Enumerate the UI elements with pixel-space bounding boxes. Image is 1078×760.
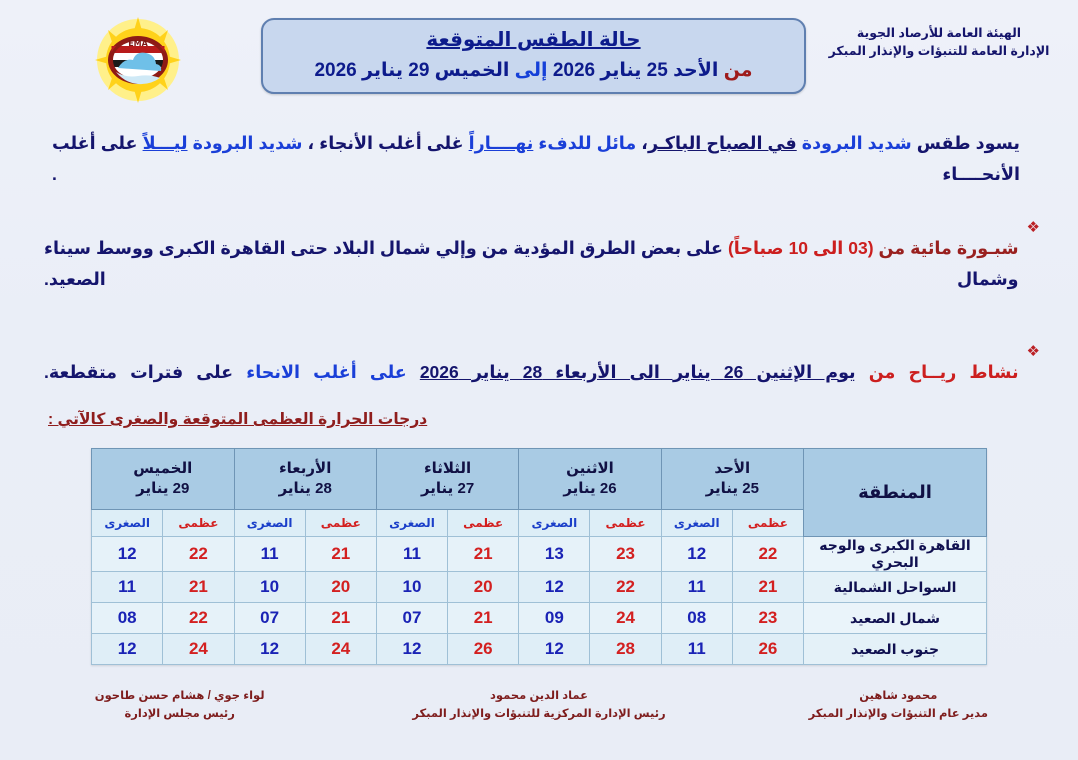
- p1-seg-3: في الصباح الباكـر: [648, 133, 797, 153]
- b1-seg-1: شبـورة مائية من: [879, 238, 1019, 258]
- table-subheader-max: عظمى: [732, 510, 803, 537]
- org-line-2: الإدارة العامة للتنبؤات والإنذار المبكر: [814, 42, 1064, 60]
- table-cell-min-temp: 12: [376, 634, 447, 665]
- signature-footer: محمود شاهينمدير عام التنبؤات والإنذار ال…: [0, 688, 1078, 748]
- table-cell-min-temp: 07: [234, 603, 305, 634]
- bullet-1-text: شبـورة مائية من (03 الى 10 صباحاً) على ب…: [44, 233, 1019, 296]
- table-cell-min-temp: 12: [519, 634, 590, 665]
- caption-text: درجات الحرارة العظمى المتوقعة والصغرى كا…: [48, 411, 427, 428]
- table-cell-min-temp: 12: [661, 537, 732, 572]
- title-range-start: الأحد 25 يناير 2026: [553, 60, 719, 81]
- table-header-day: الخميس29 يناير: [92, 449, 235, 510]
- p1-seg-8: شديد البرودة: [193, 133, 303, 153]
- p1-seg-2: شديد البرودة: [802, 133, 912, 153]
- table-cell-max-temp: 24: [305, 634, 376, 665]
- table-cell-min-temp: 08: [661, 603, 732, 634]
- table-cell-max-temp: 24: [590, 603, 661, 634]
- temperature-table-wrap: المنطقةالأحد25 ينايرالاثنين26 ينايرالثلا…: [91, 448, 987, 665]
- title-from: من: [724, 60, 753, 81]
- table-cell-max-temp: 22: [163, 603, 234, 634]
- b2-seg-1: نشاط ريــاح: [909, 362, 1019, 382]
- table-cell-min-temp: 12: [92, 537, 163, 572]
- table-cell-max-temp: 20: [305, 572, 376, 603]
- table-cell-max-temp: 22: [163, 537, 234, 572]
- title-date-range: من الأحد 25 يناير 2026 إلى الخميس 29 ينا…: [263, 59, 804, 82]
- table-subheader-min: الصغرى: [92, 510, 163, 537]
- bullet-diamond-icon: ❖: [1027, 339, 1040, 365]
- organization-block: الهيئة العامة للأرصاد الجوية الإدارة الع…: [814, 24, 1064, 60]
- temperature-table-caption: درجات الحرارة العظمى المتوقعة والصغرى كا…: [0, 410, 1078, 429]
- table-subheader-min: الصغرى: [661, 510, 732, 537]
- table-header-day: الأربعاء28 يناير: [234, 449, 376, 510]
- table-cell-min-temp: 10: [376, 572, 447, 603]
- forecast-bullet-2: ❖ نشاط ريــاح من يوم الإثنين 26 يناير ال…: [44, 339, 1040, 406]
- table-cell-min-temp: 12: [92, 634, 163, 665]
- table-cell-region: شمال الصعيد: [804, 603, 987, 634]
- signature-name: لواء جوي / هشام حسن طاحون: [0, 688, 359, 706]
- p1-seg-1: يسود طقس: [917, 133, 1020, 153]
- table-head: المنطقةالأحد25 ينايرالاثنين26 ينايرالثلا…: [92, 449, 987, 537]
- signature-block: لواء جوي / هشام حسن طاحونرئيس مجلس الإدا…: [0, 688, 359, 748]
- org-line-1: الهيئة العامة للأرصاد الجوية: [814, 24, 1064, 42]
- table-cell-min-temp: 12: [519, 572, 590, 603]
- day-name: الأربعاء: [236, 459, 375, 479]
- table-cell-max-temp: 20: [448, 572, 519, 603]
- table-row: شمال الصعيد23082409210721072208: [92, 603, 987, 634]
- bullet-2-text: نشاط ريــاح من يوم الإثنين 26 يناير الى …: [44, 357, 1019, 389]
- bullet-diamond-icon: ❖: [1027, 215, 1040, 241]
- table-cell-min-temp: 08: [92, 603, 163, 634]
- forecast-bullet-1: ❖ شبـورة مائية من (03 الى 10 صباحاً) على…: [44, 215, 1040, 313]
- signature-name: محمود شاهين: [719, 688, 1078, 706]
- table-cell-max-temp: 22: [590, 572, 661, 603]
- table-cell-min-temp: 11: [92, 572, 163, 603]
- table-cell-min-temp: 11: [234, 537, 305, 572]
- page-header: EMA حالة الطقس المتوقعة من الأحد 25 يناي…: [0, 8, 1078, 108]
- table-cell-max-temp: 21: [448, 603, 519, 634]
- day-name: الخميس: [93, 459, 233, 479]
- p1-seg-6: نهــــاراً: [469, 133, 534, 153]
- table-subheader-min: الصغرى: [234, 510, 305, 537]
- svg-text:EMA: EMA: [128, 39, 148, 48]
- day-date: 29 يناير: [93, 479, 233, 499]
- signature-role: مدير عام التنبؤات والإنذار المبكر: [719, 706, 1078, 724]
- signature-role: رئيس الإدارة المركزية للتنبؤات والإنذار …: [359, 706, 718, 724]
- table-subheader-min: الصغرى: [376, 510, 447, 537]
- table-header-day: الأحد25 يناير: [661, 449, 803, 510]
- table-row: القاهرة الكبرى والوجه البحري221223132111…: [92, 537, 987, 572]
- table-subheader-max: عظمى: [305, 510, 376, 537]
- table-cell-max-temp: 21: [163, 572, 234, 603]
- table-cell-min-temp: 11: [661, 634, 732, 665]
- table-body: القاهرة الكبرى والوجه البحري221223132111…: [92, 537, 987, 665]
- table-cell-min-temp: 12: [234, 634, 305, 665]
- table-cell-min-temp: 11: [661, 572, 732, 603]
- table-cell-region: القاهرة الكبرى والوجه البحري: [804, 537, 987, 572]
- table-cell-max-temp: 26: [448, 634, 519, 665]
- forecast-page: EMA حالة الطقس المتوقعة من الأحد 25 يناي…: [0, 0, 1078, 760]
- day-date: 28 يناير: [236, 479, 375, 499]
- b2-seg-4: على أغلب الانحاء: [246, 362, 406, 382]
- table-cell-min-temp: 07: [376, 603, 447, 634]
- table-cell-max-temp: 26: [732, 634, 803, 665]
- title-to: إلى: [515, 60, 548, 81]
- table-cell-max-temp: 21: [305, 537, 376, 572]
- temperature-table: المنطقةالأحد25 ينايرالاثنين26 ينايرالثلا…: [91, 448, 987, 665]
- table-cell-max-temp: 21: [732, 572, 803, 603]
- table-cell-max-temp: 24: [163, 634, 234, 665]
- table-cell-min-temp: 13: [519, 537, 590, 572]
- table-cell-min-temp: 10: [234, 572, 305, 603]
- signature-name: عماد الدين محمود: [359, 688, 718, 706]
- day-date: 26 يناير: [520, 479, 659, 499]
- signature-role: رئيس مجلس الإدارة: [0, 706, 359, 724]
- table-cell-max-temp: 22: [732, 537, 803, 572]
- table-cell-region: السواحل الشمالية: [804, 572, 987, 603]
- page-title: حالة الطقس المتوقعة: [263, 27, 804, 52]
- b1-seg-2: (03 الى 10 صباحاً): [728, 238, 874, 258]
- table-subheader-min: الصغرى: [519, 510, 590, 537]
- table-day-header-row: المنطقةالأحد25 ينايرالاثنين26 ينايرالثلا…: [92, 449, 987, 510]
- table-subheader-max: عظمى: [163, 510, 234, 537]
- p1-seg-5: مائل للدفء: [538, 133, 636, 153]
- forecast-content: يسود طقس شديد البرودة في الصباح الباكـر،…: [0, 128, 1078, 406]
- title-range-end: الخميس 29 يناير 2026: [314, 60, 509, 81]
- p1-seg-4: ،: [641, 133, 648, 153]
- b2-seg-3: يوم الإثنين 26 يناير الى الأربعاء 28 ينا…: [420, 362, 856, 382]
- p1-seg-9: ليـــلاً: [143, 133, 188, 153]
- b2-seg-2: من: [869, 362, 896, 382]
- table-cell-max-temp: 28: [590, 634, 661, 665]
- title-box: حالة الطقس المتوقعة من الأحد 25 يناير 20…: [261, 18, 806, 94]
- day-name: الأحد: [663, 459, 802, 479]
- table-cell-max-temp: 23: [590, 537, 661, 572]
- day-date: 25 يناير: [663, 479, 802, 499]
- table-subheader-max: عظمى: [590, 510, 661, 537]
- table-cell-min-temp: 09: [519, 603, 590, 634]
- signature-block: محمود شاهينمدير عام التنبؤات والإنذار ال…: [719, 688, 1078, 748]
- table-cell-max-temp: 21: [305, 603, 376, 634]
- table-subheader-max: عظمى: [448, 510, 519, 537]
- day-name: الاثنين: [520, 459, 659, 479]
- table-cell-region: جنوب الصعيد: [804, 634, 987, 665]
- table-cell-min-temp: 11: [376, 537, 447, 572]
- table-cell-max-temp: 21: [448, 537, 519, 572]
- day-date: 27 يناير: [378, 479, 517, 499]
- table-row: جنوب الصعيد26112812261224122412: [92, 634, 987, 665]
- signature-block: عماد الدين محمودرئيس الإدارة المركزية لل…: [359, 688, 718, 748]
- day-name: الثلاثاء: [378, 459, 517, 479]
- table-row: السواحل الشمالية21112212201020102111: [92, 572, 987, 603]
- p1-seg-7: غلى أغلب الأنجاء ،: [308, 133, 464, 153]
- table-cell-max-temp: 23: [732, 603, 803, 634]
- table-header-day: الاثنين26 يناير: [519, 449, 661, 510]
- b2-seg-5: على فترات متقطعة.: [44, 362, 233, 382]
- forecast-paragraph-1: يسود طقس شديد البرودة في الصباح الباكـر،…: [52, 128, 1020, 189]
- table-header-day: الثلاثاء27 يناير: [376, 449, 518, 510]
- ema-sun-cloud-logo: EMA: [86, 16, 190, 104]
- table-header-region: المنطقة: [804, 449, 987, 537]
